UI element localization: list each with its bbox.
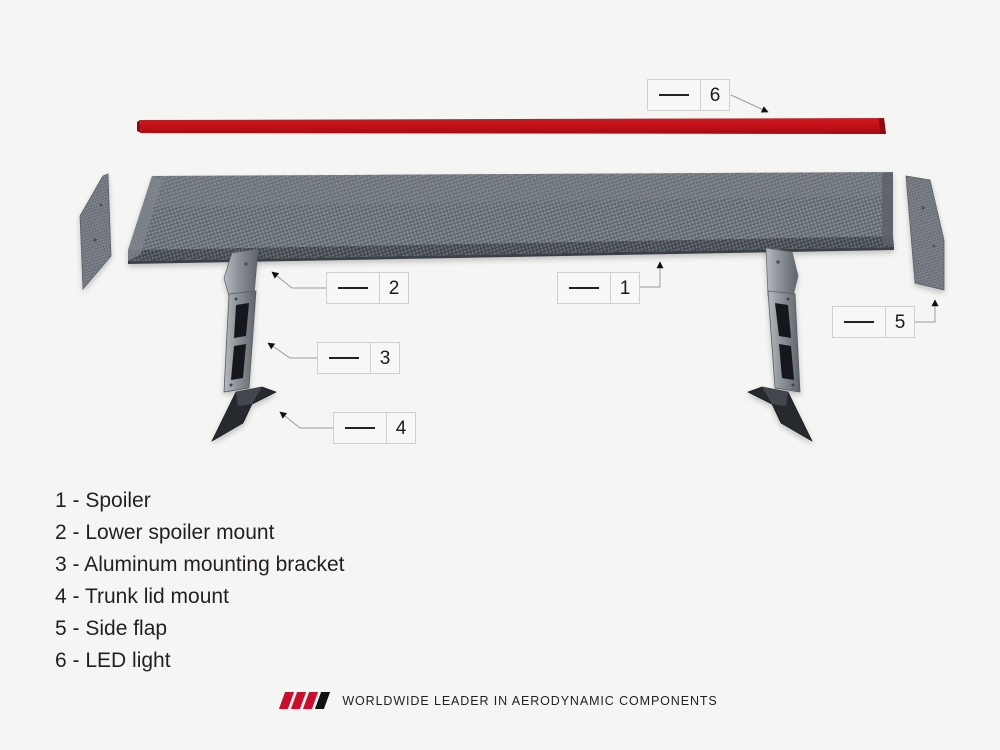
- callout-dash-cell-5: [833, 307, 886, 337]
- right-mount-assembly: [748, 248, 812, 441]
- leader-lines: [268, 95, 935, 428]
- legend-item-6: 6 - LED light: [55, 645, 344, 677]
- callout-dash-cell-1: [558, 273, 611, 303]
- dash-icon: [659, 94, 689, 96]
- left-mount-assembly: [212, 249, 276, 441]
- callout-number-6: 6: [701, 80, 729, 110]
- legend-item-1: 1 - Spoiler: [55, 485, 344, 517]
- callout-number-1: 1: [611, 273, 639, 303]
- callout-dash-cell-4: [334, 413, 387, 443]
- legend-item-5: 5 - Side flap: [55, 613, 344, 645]
- led-light-strip: [140, 118, 886, 134]
- footer-branding: WORLDWIDE LEADER IN AERODYNAMIC COMPONEN…: [0, 692, 1000, 709]
- diagram-canvas: 6 1 2 3 4 5 1 - Spoiler 2 - Lower spoile…: [0, 0, 1000, 750]
- callout-badge-3[interactable]: 3: [317, 342, 400, 374]
- callout-dash-cell-6: [648, 80, 701, 110]
- callout-number-2: 2: [380, 273, 408, 303]
- dash-icon: [329, 357, 359, 359]
- callout-badge-5[interactable]: 5: [832, 306, 915, 338]
- callout-dash-cell-2: [327, 273, 380, 303]
- dash-icon: [569, 287, 599, 289]
- legend-item-2: 2 - Lower spoiler mount: [55, 517, 344, 549]
- leader-line-1: [639, 262, 660, 287]
- callout-badge-4[interactable]: 4: [333, 412, 416, 444]
- leader-line-6: [731, 95, 768, 112]
- wing-right-tip: [882, 172, 893, 247]
- leader-line-4: [280, 412, 333, 428]
- logo-bar-4: [315, 692, 330, 709]
- legend-item-3: 3 - Aluminum mounting bracket: [55, 549, 344, 581]
- leader-line-5: [913, 300, 935, 322]
- callout-number-5: 5: [886, 307, 914, 337]
- brand-logo-icon: [282, 692, 330, 709]
- callout-badge-2[interactable]: 2: [326, 272, 409, 304]
- led-strip-group: [137, 118, 886, 134]
- callout-dash-cell-3: [318, 343, 371, 373]
- callout-badge-1[interactable]: 1: [557, 272, 640, 304]
- parts-legend: 1 - Spoiler 2 - Lower spoiler mount 3 - …: [55, 485, 344, 677]
- footer-tagline: WORLDWIDE LEADER IN AERODYNAMIC COMPONEN…: [342, 694, 717, 708]
- leader-line-3: [268, 343, 317, 358]
- dash-icon: [345, 427, 375, 429]
- right-side-flap: [906, 176, 944, 290]
- leader-line-2: [272, 272, 326, 288]
- left-side-flap: [80, 174, 111, 289]
- legend-item-4: 4 - Trunk lid mount: [55, 581, 344, 613]
- led-strip-right-cap: [879, 118, 886, 134]
- dash-icon: [844, 321, 874, 323]
- callout-badge-6[interactable]: 6: [647, 79, 730, 111]
- callout-number-4: 4: [387, 413, 415, 443]
- dash-icon: [338, 287, 368, 289]
- callout-number-3: 3: [371, 343, 399, 373]
